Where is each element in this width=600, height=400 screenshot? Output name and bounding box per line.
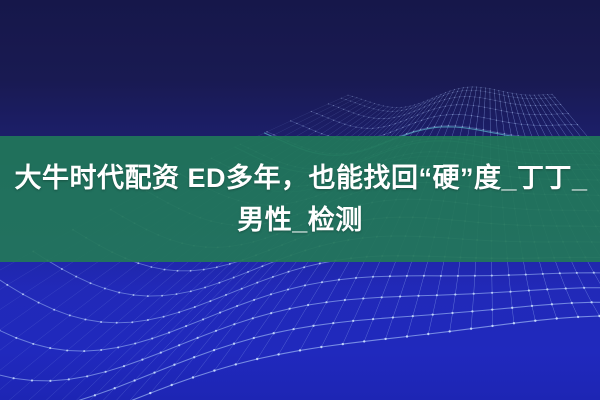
title-block: 大牛时代配资 ED多年，也能找回“硬”度_丁丁_ 男性_检测 — [0, 136, 600, 262]
page-title-line-1: 大牛时代配资 ED多年，也能找回“硬”度_丁丁_ — [12, 158, 587, 198]
page-title-line-2: 男性_检测 — [237, 200, 363, 240]
banner-image: 大牛时代配资 ED多年，也能找回“硬”度_丁丁_ 男性_检测 — [0, 0, 600, 400]
